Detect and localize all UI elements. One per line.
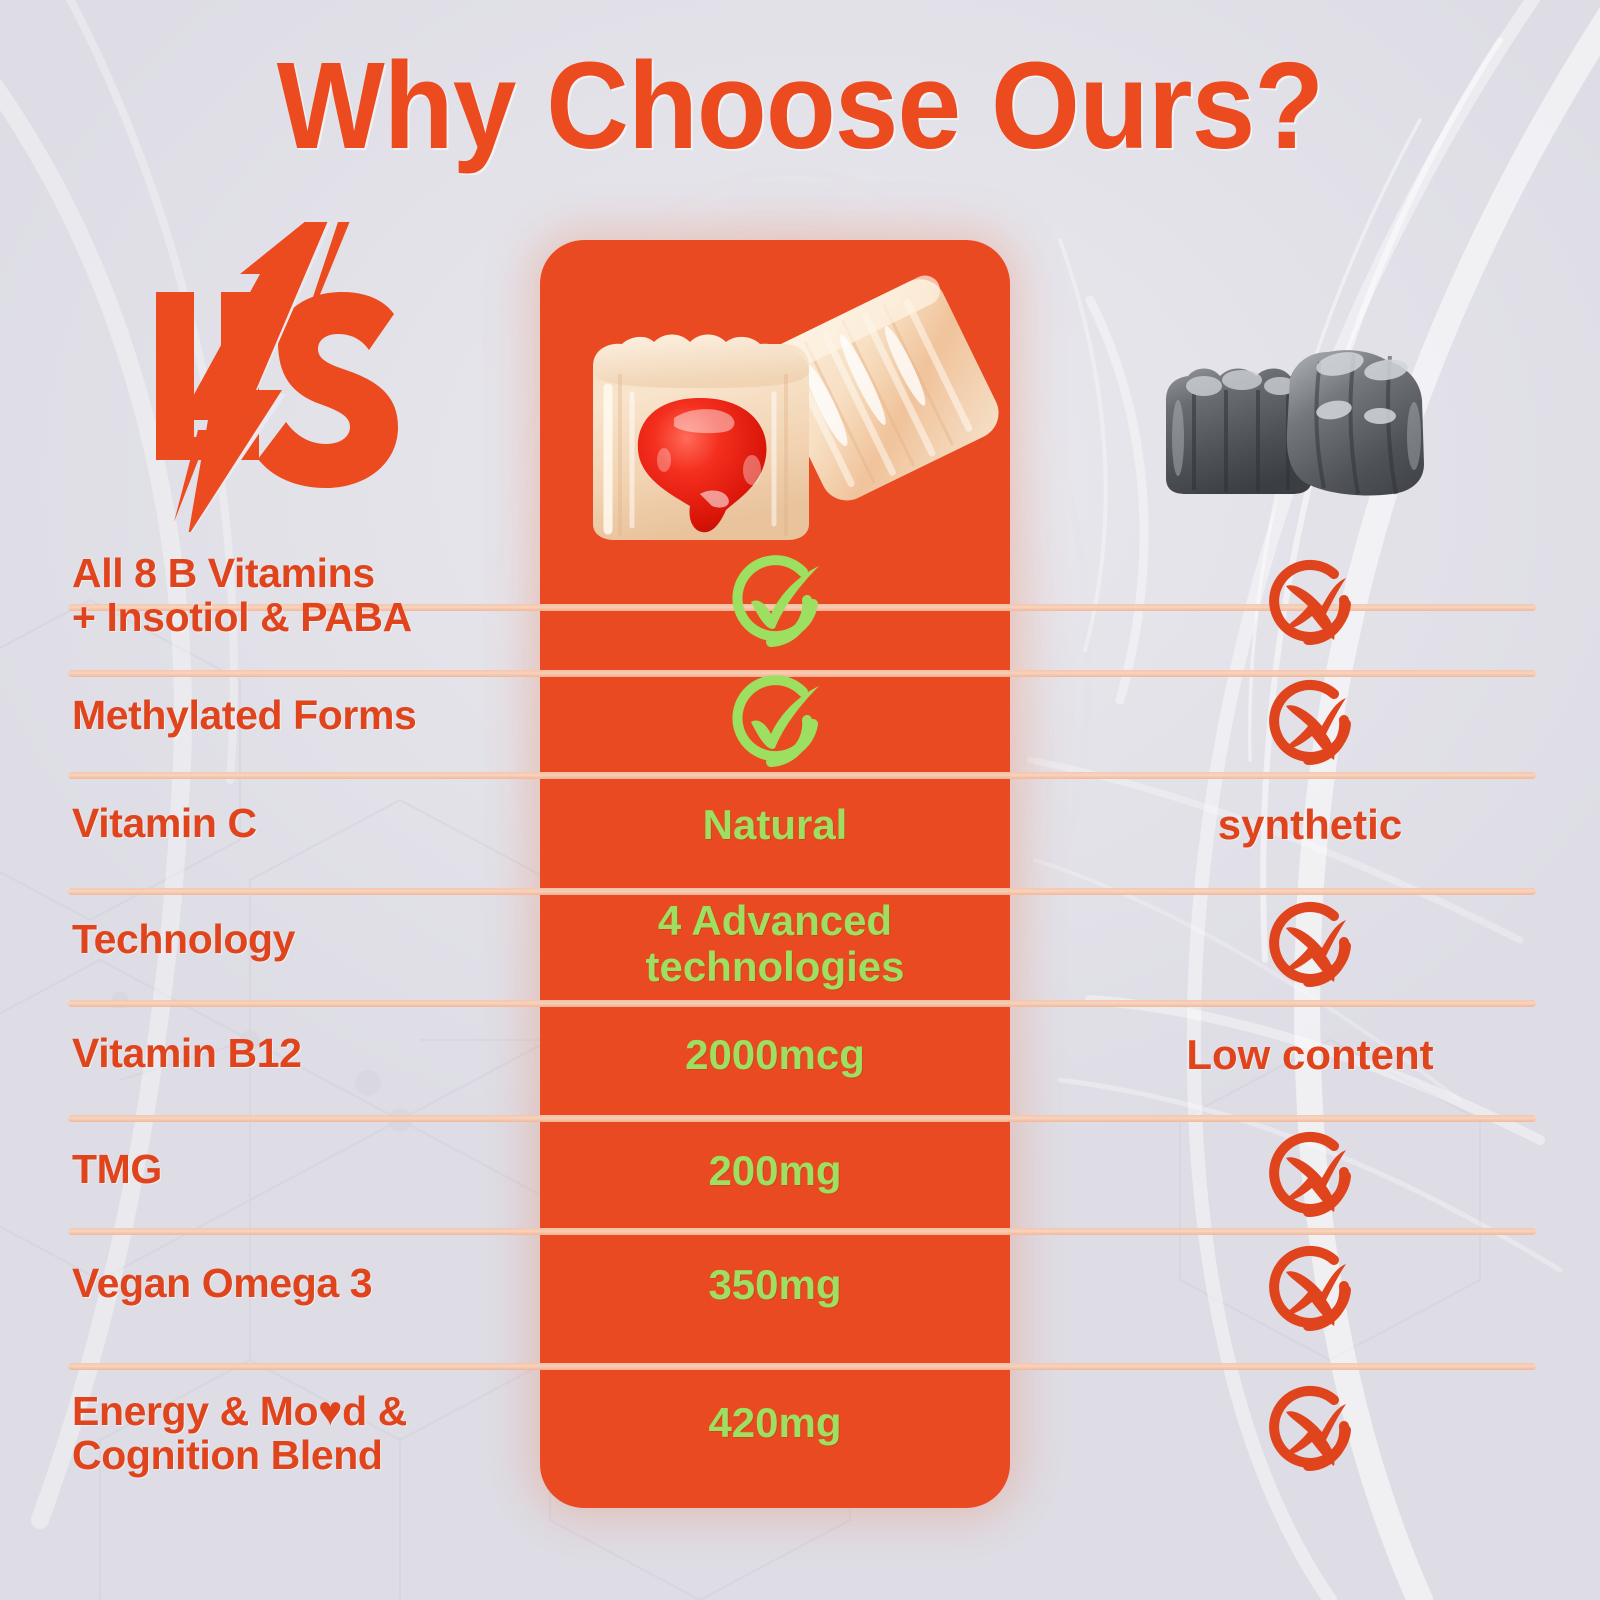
row-divider xyxy=(68,1115,1536,1122)
feature-label: All 8 B Vitamins + Insotiol & PABA xyxy=(72,552,522,640)
row-divider xyxy=(68,888,1536,895)
ours-value xyxy=(540,672,1010,781)
feature-label: Energy & Mo♥d & Cognition Blend xyxy=(72,1390,522,1478)
ours-value: Natural xyxy=(540,802,1010,848)
x-circle-icon xyxy=(1260,898,1360,1003)
vs-badge: VS xyxy=(126,222,426,532)
ours-value-line: technologies xyxy=(540,944,1010,990)
ours-value: 350mg xyxy=(540,1262,1010,1308)
feature-label-line: All 8 B Vitamins xyxy=(72,552,522,596)
feature-label-line: + Insotiol & PABA xyxy=(72,596,522,640)
feature-label: Technology xyxy=(72,918,522,962)
theirs-value xyxy=(1030,1382,1590,1487)
theirs-value: synthetic xyxy=(1030,802,1590,848)
ours-value xyxy=(540,552,1010,661)
feature-label: Vitamin C xyxy=(72,802,522,846)
ours-value-line: 4 Advanced xyxy=(540,898,1010,944)
vs-badge-graphic: VS xyxy=(126,222,426,532)
x-circle-icon xyxy=(1260,1382,1360,1487)
theirs-value xyxy=(1030,676,1590,781)
ours-value: 420mg xyxy=(540,1400,1010,1446)
page-title: Why Choose Ours? xyxy=(56,42,1544,171)
feature-label: Vitamin B12 xyxy=(72,1032,522,1076)
x-circle-icon xyxy=(1260,1128,1360,1233)
feature-label: Vegan Omega 3 xyxy=(72,1262,522,1306)
theirs-value xyxy=(1030,556,1590,661)
feature-label-line: Cognition Blend xyxy=(72,1434,522,1478)
row-divider xyxy=(68,1363,1536,1370)
feature-label-line: Energy & Mo♥d & xyxy=(72,1390,522,1434)
feature-label: TMG xyxy=(72,1148,522,1192)
ours-value: 200mg xyxy=(540,1148,1010,1194)
check-circle-icon xyxy=(721,552,829,661)
x-circle-icon xyxy=(1260,1242,1360,1347)
theirs-value xyxy=(1030,1128,1590,1233)
feature-label: Methylated Forms xyxy=(72,694,522,738)
check-circle-icon xyxy=(721,672,829,781)
theirs-value xyxy=(1030,898,1590,1003)
ours-value: 4 Advanced technologies xyxy=(540,898,1010,990)
ours-value: 2000mcg xyxy=(540,1032,1010,1078)
x-circle-icon xyxy=(1260,676,1360,781)
theirs-value xyxy=(1030,1242,1590,1347)
theirs-value: Low content xyxy=(1030,1032,1590,1078)
x-circle-icon xyxy=(1260,556,1360,661)
